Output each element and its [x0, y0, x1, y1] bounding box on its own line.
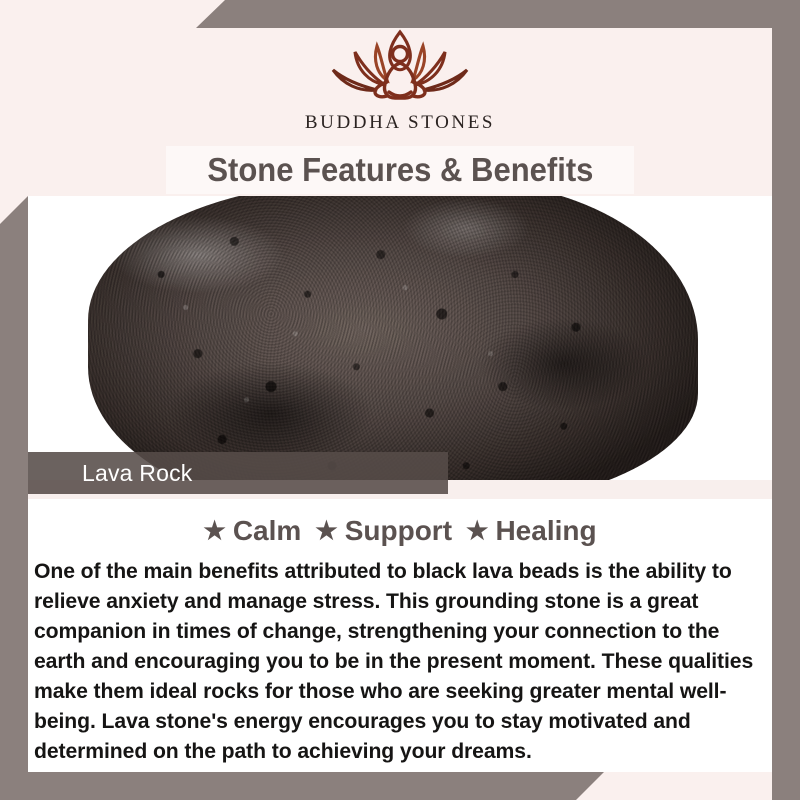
content-section: ★ Calm ★ Support ★ Healing One of the ma… [28, 499, 772, 772]
keyword-healing: ★ Healing [466, 515, 597, 547]
star-icon: ★ [466, 519, 488, 544]
keyword-label: Support [345, 515, 452, 547]
poster: BUDDHA STONES Stone Features & Benefits … [0, 0, 800, 800]
keyword-calm: ★ Calm [203, 515, 301, 547]
frame-band-bottom [0, 772, 800, 800]
keyword-support: ★ Support [315, 515, 452, 547]
stone-name-label: Lava Rock [28, 460, 192, 487]
frame-band-right [772, 0, 800, 800]
benefits-paragraph: One of the main benefits attributed to b… [34, 556, 755, 766]
title-banner: Stone Features & Benefits [166, 146, 634, 194]
page-title: Stone Features & Benefits [207, 151, 593, 189]
stone-photo [28, 196, 772, 480]
brand-logo: BUDDHA STONES [0, 22, 800, 134]
keyword-label: Healing [495, 515, 596, 547]
stone-name-badge: Lava Rock [28, 452, 448, 494]
lotus-meditation-icon [325, 22, 475, 108]
brand-name: BUDDHA STONES [0, 112, 800, 134]
lava-rock-image [88, 196, 698, 480]
star-icon: ★ [203, 519, 225, 544]
keyword-row: ★ Calm ★ Support ★ Healing [28, 499, 772, 547]
keyword-label: Calm [233, 515, 301, 547]
star-icon: ★ [315, 519, 337, 544]
